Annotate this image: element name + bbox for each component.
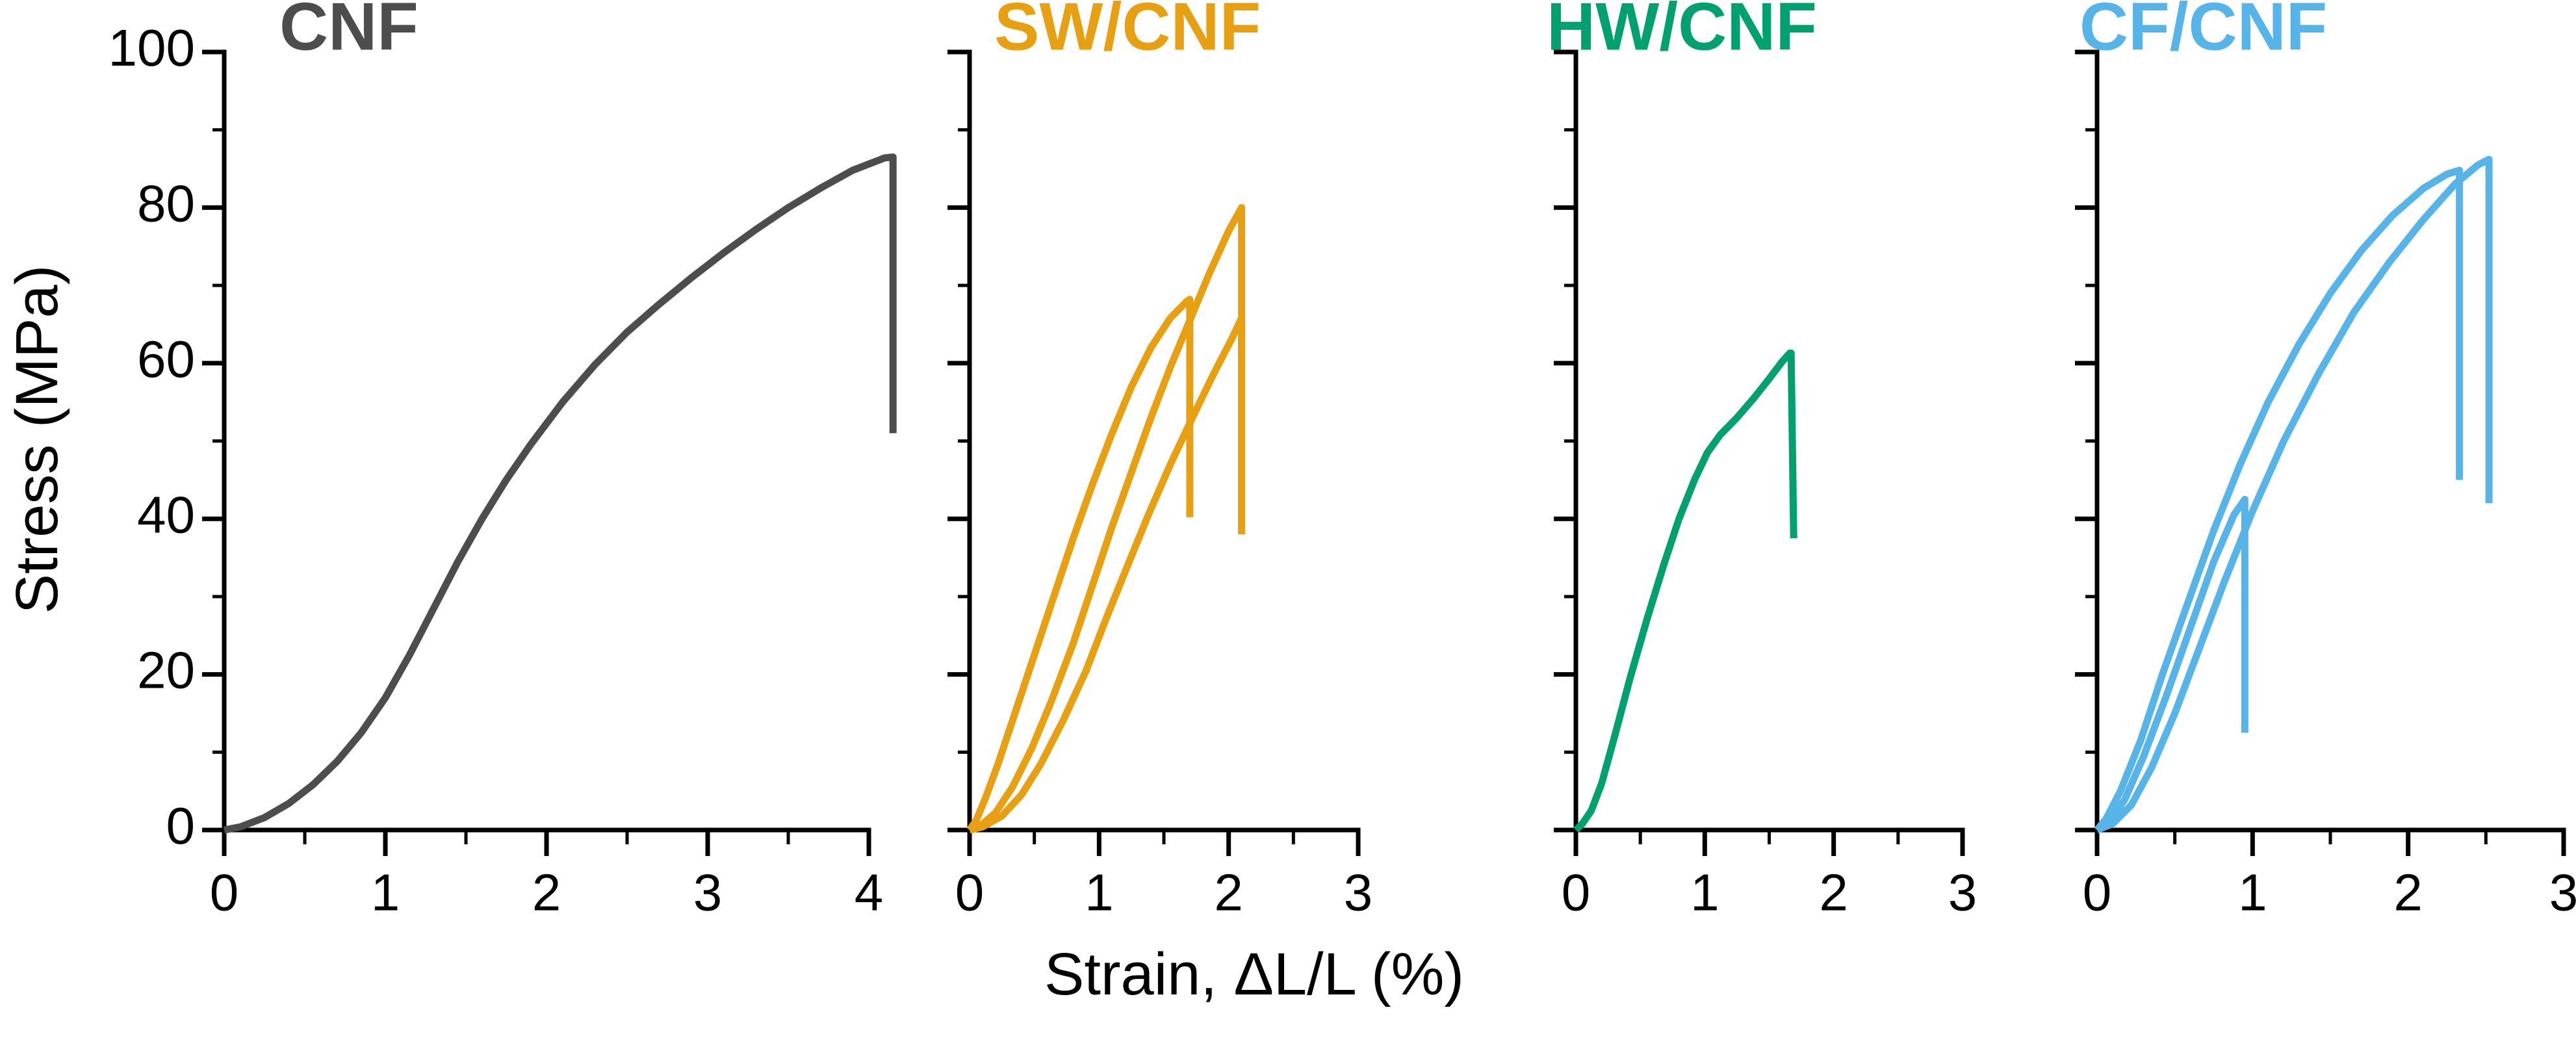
y-tick-label: 40 xyxy=(137,486,195,543)
x-tick-label: 3 xyxy=(1948,864,1977,922)
x-tick-label: 2 xyxy=(1819,864,1848,922)
y-axis-title: Stress (MPa) xyxy=(4,265,70,614)
panel-title: HW/CNF xyxy=(1547,0,1817,64)
y-tick-label: 80 xyxy=(137,175,195,233)
x-tick-label: 2 xyxy=(1214,864,1243,922)
x-tick-label: 0 xyxy=(1562,864,1591,922)
x-tick-label: 1 xyxy=(2238,864,2267,922)
x-tick-label: 1 xyxy=(371,864,400,922)
x-tick-label: 0 xyxy=(210,864,239,922)
x-tick-label: 1 xyxy=(1085,864,1114,922)
stress-strain-figure: Stress (MPa) 020406080100 01234CNF0123SW… xyxy=(0,0,2576,1051)
y-tick-label: 0 xyxy=(166,797,196,855)
y-tick-label: 20 xyxy=(137,642,195,699)
panel-title: SW/CNF xyxy=(994,0,1261,64)
x-tick-label: 0 xyxy=(955,864,985,922)
x-tick-label: 4 xyxy=(855,864,884,922)
figure-canvas: Stress (MPa) 020406080100 01234CNF0123SW… xyxy=(0,0,2576,1051)
x-tick-label: 3 xyxy=(1344,864,1373,922)
x-tick-label: 1 xyxy=(1690,864,1719,922)
y-tick-label: 100 xyxy=(109,19,195,77)
x-tick-label: 0 xyxy=(2083,864,2112,922)
panel-title: CNF xyxy=(279,0,419,64)
x-tick-label: 2 xyxy=(2393,864,2423,922)
y-tick-label: 60 xyxy=(137,330,195,388)
x-tick-label: 2 xyxy=(532,864,561,922)
x-tick-label: 3 xyxy=(2549,864,2576,922)
x-axis-title: Strain, ΔL/L (%) xyxy=(1044,941,1464,1007)
panel-title: CF/CNF xyxy=(2080,0,2327,64)
x-tick-label: 3 xyxy=(693,864,723,922)
